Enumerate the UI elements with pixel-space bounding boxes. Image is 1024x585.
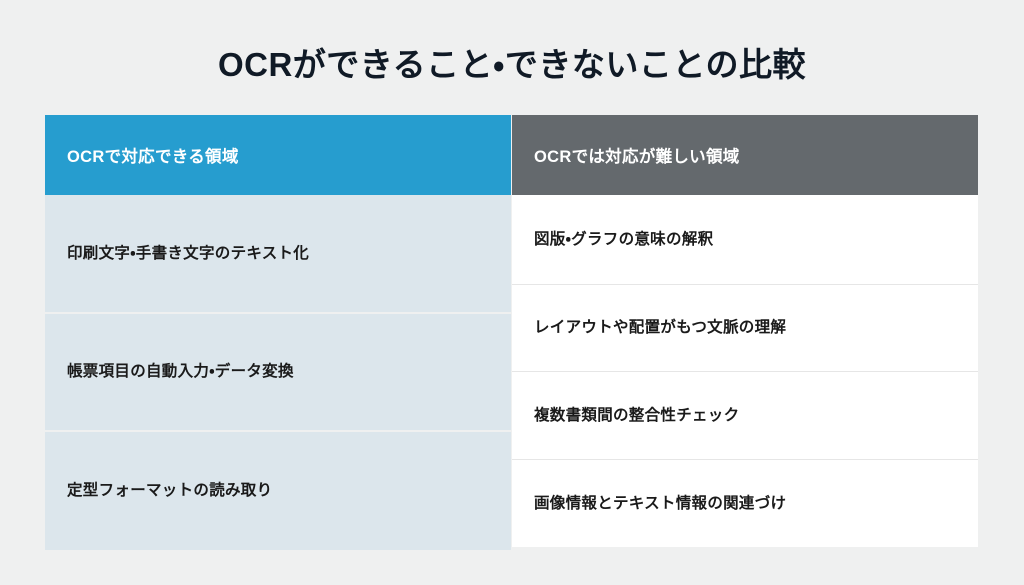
table-column-cannot: OCRでは対応が難しい領域 図版・グラフの意味の解釈 レイアウトや配置がもつ文脈…	[512, 115, 978, 547]
comparison-table: OCRで対応できる領域 印刷文字・手書き文字のテキスト化 帳票項目の自動入力・デ…	[45, 115, 978, 551]
table-row: 画像情報とテキスト情報の関連づけ	[512, 460, 978, 547]
table-row: 複数書類間の整合性チェック	[512, 372, 978, 460]
slide-canvas: OCRができること・できないことの比較 OCRで対応できる領域 印刷文字・手書き…	[0, 0, 1024, 585]
table-row: 図版・グラフの意味の解釈	[512, 195, 978, 285]
table-column-can: OCRで対応できる領域 印刷文字・手書き文字のテキスト化 帳票項目の自動入力・デ…	[45, 115, 511, 550]
page-title: OCRができること・できないことの比較	[0, 38, 1024, 86]
column-header-can: OCRで対応できる領域	[45, 115, 511, 195]
table-row: 帳票項目の自動入力・データ変換	[45, 314, 511, 432]
column-header-cannot: OCRでは対応が難しい領域	[512, 115, 978, 195]
table-row: レイアウトや配置がもつ文脈の理解	[512, 285, 978, 372]
table-row: 印刷文字・手書き文字のテキスト化	[45, 195, 511, 314]
table-row: 定型フォーマットの読み取り	[45, 432, 511, 550]
